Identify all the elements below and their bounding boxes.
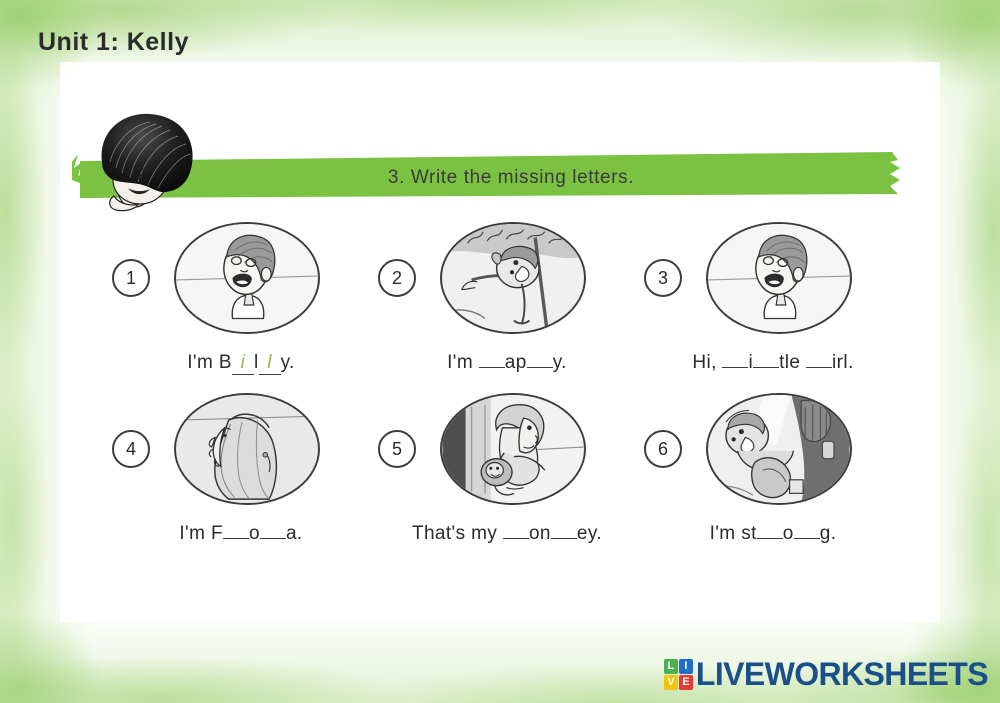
exercise-number-1: 1 <box>112 259 150 297</box>
exercise-item-6: 6 <box>640 393 906 545</box>
caption-blank[interactable]: l <box>259 352 281 375</box>
logo-tile-l: L <box>664 659 678 674</box>
caption-text: I'm st <box>710 523 757 544</box>
caption-blank[interactable] <box>757 538 783 539</box>
caption-text: o <box>249 523 260 544</box>
exercise-image-6 <box>706 393 852 505</box>
exercise-number-5: 5 <box>378 430 416 468</box>
caption-blank[interactable] <box>223 538 249 539</box>
exercise-row-1: 1 <box>108 222 908 375</box>
boy-head-icon <box>88 110 204 216</box>
boy-singing-portrait-icon <box>176 224 318 332</box>
caption-text: on <box>529 523 551 544</box>
exercise-item-3: 3 <box>640 222 906 375</box>
girl-with-monkey-icon <box>442 395 584 503</box>
caption-blank[interactable] <box>479 367 505 368</box>
exercise-caption-6: I'm stog. <box>710 523 837 545</box>
exercise-item-2: 2 <box>374 222 640 375</box>
liveworksheets-logo[interactable]: L I V E LIVEWORKSHEETS <box>664 658 988 690</box>
exercise-grid: 1 <box>108 222 908 545</box>
caption-text: o <box>783 523 794 544</box>
exercise-image-4 <box>174 393 320 505</box>
exercise-image-1 <box>174 222 320 334</box>
exercise-row-2: 4 <box>108 393 908 545</box>
worksheet-page: Unit 1: Kelly 3. Write the missing lette… <box>0 0 1000 703</box>
exercise-caption-1: I'm Billy. <box>187 352 294 375</box>
caption-blank[interactable] <box>503 538 529 539</box>
caption-text: a. <box>286 523 303 544</box>
exercise-image-2 <box>440 222 586 334</box>
logo-tile-e: E <box>679 675 693 690</box>
caption-text: irl. <box>832 352 854 373</box>
exercise-picture-wrap-6: 6 <box>682 393 882 509</box>
caption-text: Hi, <box>692 352 722 373</box>
caption-blank[interactable] <box>794 538 820 539</box>
caption-blank[interactable] <box>551 538 577 539</box>
caption-text: I'm B <box>187 352 232 373</box>
exercise-caption-2: I'm apy. <box>447 352 567 374</box>
exercise-item-5: 5 <box>374 393 640 545</box>
girl-profile-long-hair-icon <box>176 395 318 503</box>
exercise-number-4: 4 <box>112 430 150 468</box>
exercise-caption-3: Hi, itle irl. <box>692 352 853 374</box>
exercise-item-1: 1 <box>108 222 374 375</box>
exercise-picture-wrap-3: 3 <box>682 222 882 338</box>
exercise-picture-wrap-2: 2 <box>416 222 616 338</box>
caption-blank[interactable] <box>806 367 832 368</box>
boy-singing-portrait-icon <box>708 224 850 332</box>
caption-text: tle <box>779 352 806 373</box>
caption-text: i <box>748 352 753 373</box>
boy-flexing-arm-icon <box>708 395 850 503</box>
exercise-number-3: 3 <box>644 259 682 297</box>
caption-text: ey. <box>577 523 602 544</box>
caption-text: g. <box>820 523 837 544</box>
logo-tile-i: I <box>679 659 693 674</box>
exercise-number-6: 6 <box>644 430 682 468</box>
caption-blank[interactable] <box>260 538 286 539</box>
caption-blank[interactable] <box>527 367 553 368</box>
logo-tile-v: V <box>664 675 678 690</box>
exercise-item-4: 4 <box>108 393 374 545</box>
exercise-picture-wrap-1: 1 <box>150 222 350 338</box>
caption-blank[interactable] <box>722 367 748 368</box>
exercise-picture-wrap-4: 4 <box>150 393 350 509</box>
caption-blank[interactable] <box>753 367 779 368</box>
logo-tiles: L I V E <box>664 659 693 690</box>
girl-hanging-from-branch-icon <box>442 224 584 332</box>
exercise-image-5 <box>440 393 586 505</box>
caption-text: ap <box>505 352 527 373</box>
exercise-image-3 <box>706 222 852 334</box>
caption-blank[interactable]: i <box>232 352 254 375</box>
exercise-caption-4: I'm Foa. <box>179 523 302 545</box>
exercise-caption-5: That's my oney. <box>412 523 602 545</box>
caption-text: I'm F <box>179 523 223 544</box>
exercise-picture-wrap-5: 5 <box>416 393 616 509</box>
logo-wordmark: LIVEWORKSHEETS <box>696 658 988 690</box>
caption-text: y. <box>553 352 567 373</box>
exercise-number-2: 2 <box>378 259 416 297</box>
page-title: Unit 1: Kelly <box>38 28 189 57</box>
caption-text: I'm <box>447 352 479 373</box>
caption-text: That's my <box>412 523 503 544</box>
caption-text: y. <box>281 352 295 373</box>
